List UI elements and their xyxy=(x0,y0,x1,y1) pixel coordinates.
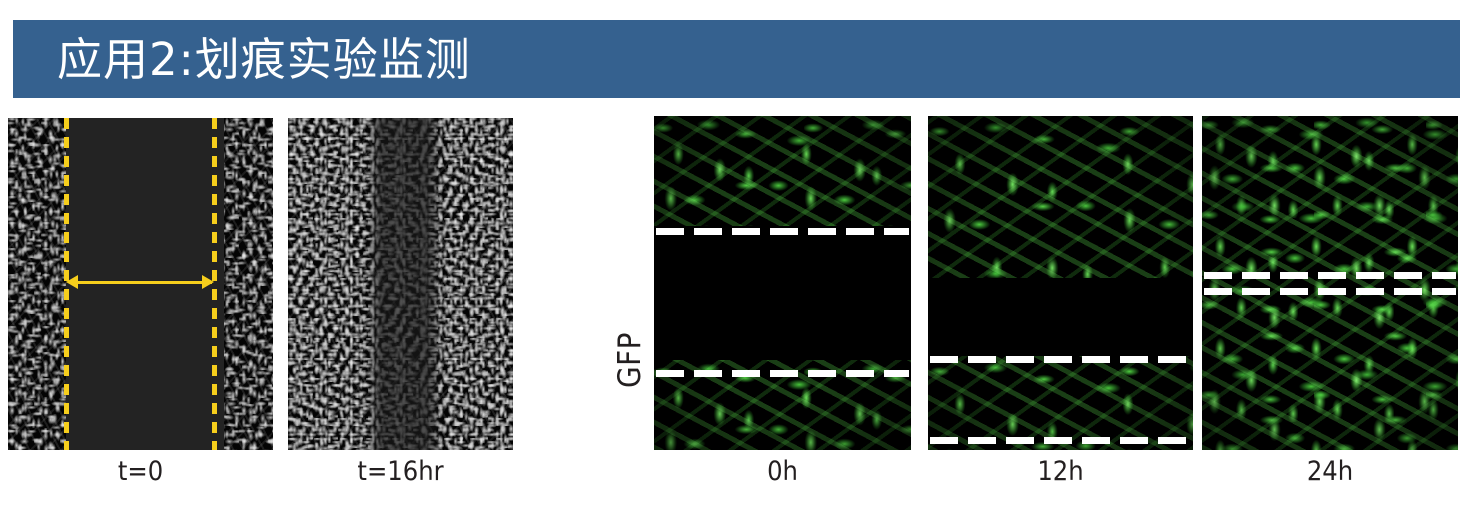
wound-width-arrow-shaft xyxy=(70,281,212,284)
caption-brightfield-t16hr: t=16hr xyxy=(288,456,513,487)
caption-brightfield-t0: t=0 xyxy=(8,456,273,487)
panel-brightfield-t0[interactable] xyxy=(8,118,273,450)
panel-brightfield-t16hr[interactable] xyxy=(288,118,513,450)
caption-gfp-0h: 0h xyxy=(654,456,911,487)
wound-edge-marker-bottom xyxy=(656,370,909,377)
slide-title-banner: 应用2:划痕实验监测 xyxy=(13,20,1460,98)
gfp-vignette xyxy=(654,116,911,450)
wound-edge-marker-top xyxy=(930,356,1191,363)
page-title: 应用2:划痕实验监测 xyxy=(57,37,471,82)
scratch-gap-region xyxy=(66,118,224,450)
caption-gfp-24h: 24h xyxy=(1202,456,1458,487)
wound-width-arrow-head-right xyxy=(202,275,214,289)
wound-edge-marker-top xyxy=(1204,272,1456,279)
wound-edge-marker-top xyxy=(656,228,909,235)
gfp-vignette xyxy=(928,116,1193,450)
wound-edge-marker-bottom xyxy=(1204,288,1456,295)
panel-gfp-0h[interactable] xyxy=(654,116,911,450)
healed-scratch-trace xyxy=(366,118,442,450)
panel-gfp-12h[interactable] xyxy=(928,116,1193,450)
gfp-channel-axis-label: GFP xyxy=(612,268,648,388)
figure-area: t=0 t=16hr GFP 0h 12h xyxy=(0,98,1478,514)
wound-width-arrow-head-left xyxy=(66,275,78,289)
caption-gfp-12h: 12h xyxy=(928,456,1193,487)
gfp-vignette xyxy=(1202,116,1458,450)
wound-edge-marker-bottom xyxy=(930,437,1191,444)
panel-gfp-24h[interactable] xyxy=(1202,116,1458,450)
